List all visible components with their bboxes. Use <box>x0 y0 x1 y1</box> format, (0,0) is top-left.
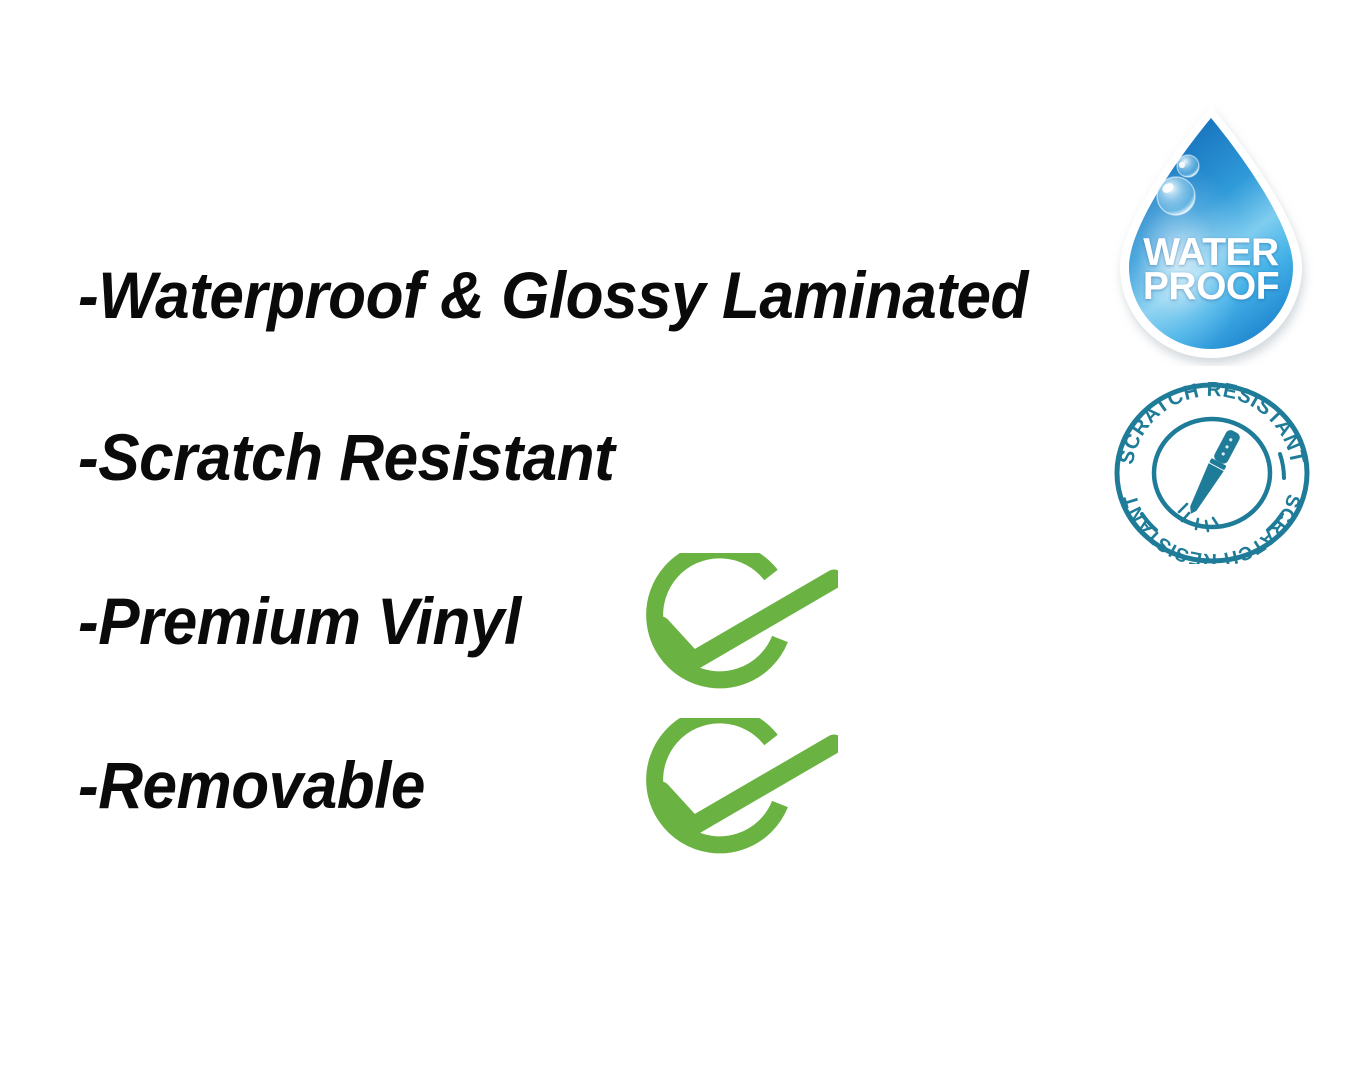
scratch-resistant-badge: SCRATCH RESISTANT SCRATCH RESISTANT <box>1112 382 1312 564</box>
seal-dash-upper-right <box>1280 454 1284 478</box>
knife-blade <box>1184 463 1224 518</box>
check-circle-icon <box>638 553 838 703</box>
product-feature-graphic: -Waterproof & Glossy Laminated -Scratch … <box>0 0 1359 1080</box>
feature-line-removable: -Removable <box>78 752 425 818</box>
feature-line-premium-vinyl: -Premium Vinyl <box>78 588 521 654</box>
feature-line-scratch-resistant: -Scratch Resistant <box>78 424 614 490</box>
scratch-resistant-seal-icon: SCRATCH RESISTANT SCRATCH RESISTANT <box>1112 382 1312 564</box>
check-stroke <box>661 744 834 826</box>
check-circle-icon <box>638 718 838 868</box>
checkmark-removable <box>638 718 838 868</box>
water-drop-icon <box>1106 104 1316 366</box>
check-stroke <box>661 579 834 661</box>
waterproof-badge: WATER PROOF <box>1106 104 1316 366</box>
bubble-large-icon <box>1157 177 1195 215</box>
drop-highlight <box>1129 118 1293 349</box>
bubble-small-glint <box>1179 162 1185 168</box>
feature-line-waterproof-glossy-laminated: -Waterproof & Glossy Laminated <box>78 262 1028 328</box>
knife-icon <box>1184 428 1243 518</box>
checkmark-premium-vinyl <box>638 553 838 703</box>
